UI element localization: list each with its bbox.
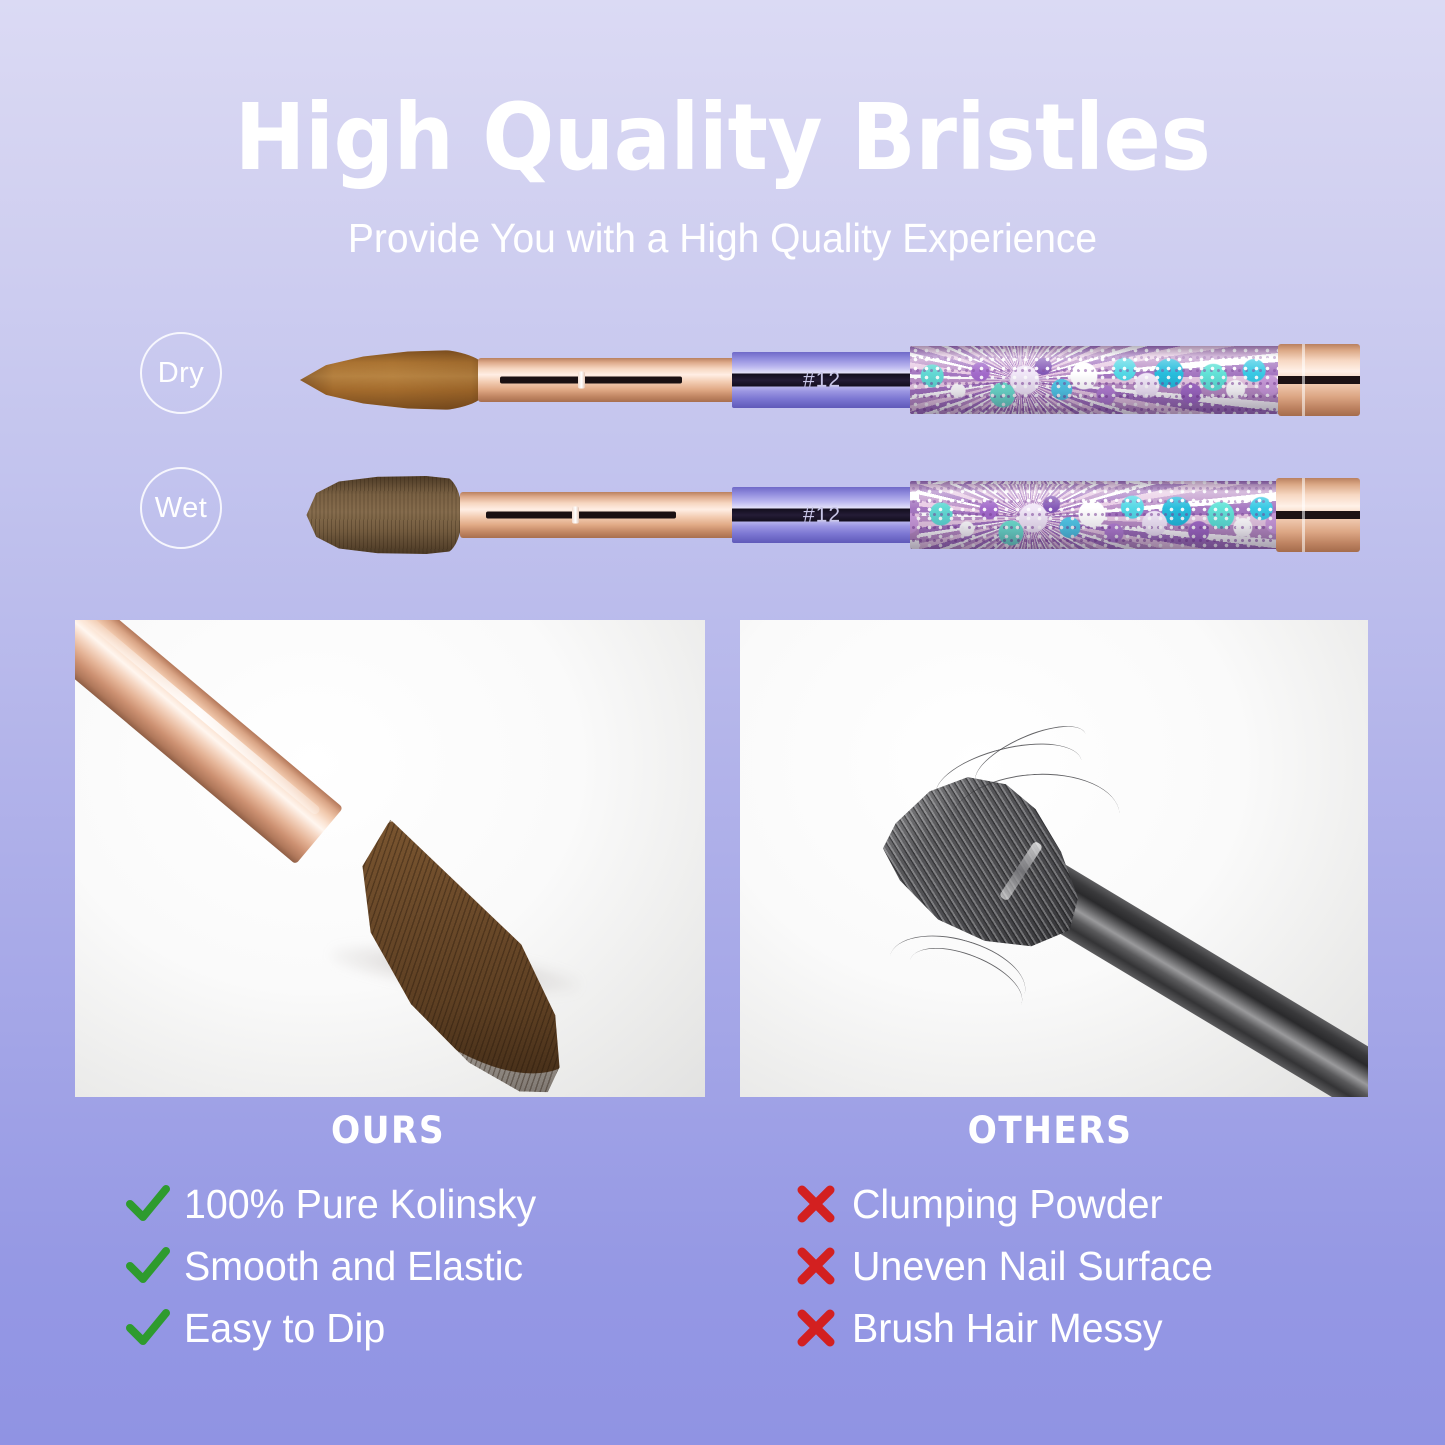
ours-brush-photo xyxy=(75,620,705,1097)
feature-list-ours: 100% Pure Kolinsky Smooth and Elastic Ea… xyxy=(68,1173,708,1359)
feature-label: 100% Pure Kolinsky xyxy=(184,1184,536,1225)
state-badge-wet-label: Wet xyxy=(155,492,208,525)
glitter-shading-wet xyxy=(910,481,1278,549)
end-cap-split-dry xyxy=(1302,344,1305,416)
end-cap-dry xyxy=(1278,344,1360,416)
page-title: High Quality Bristles xyxy=(58,0,1387,184)
feature-label: Brush Hair Messy xyxy=(852,1308,1163,1349)
feature-list-others: Clumping Powder Uneven Nail Surface Brus… xyxy=(730,1173,1370,1359)
product-feature-banner: High Quality Bristles Provide You with a… xyxy=(0,0,1445,1445)
brush-illustration-wet: #12 xyxy=(300,450,1360,580)
list-item: Uneven Nail Surface xyxy=(730,1235,1370,1297)
brush-illustration-dry: #12 xyxy=(300,315,1360,445)
feature-label: Uneven Nail Surface xyxy=(852,1246,1213,1287)
state-badge-dry: Dry xyxy=(140,332,222,414)
brush-row-wet: Wet #12 xyxy=(0,450,1445,580)
column-heading-ours: OURS xyxy=(90,1112,685,1149)
check-icon xyxy=(122,1246,174,1286)
brush-rounded-icon xyxy=(300,476,462,554)
handle-purple-wet: #12 xyxy=(732,487,912,543)
ferrule-dry xyxy=(478,358,740,402)
page-subtitle: Provide You with a High Quality Experien… xyxy=(36,184,1409,259)
cross-icon xyxy=(790,1246,842,1286)
header: High Quality Bristles Provide You with a… xyxy=(0,0,1445,259)
ferrule-slot-dry xyxy=(500,377,682,384)
state-badge-wet: Wet xyxy=(140,467,222,549)
handle-glitter-dry xyxy=(910,346,1280,414)
comparison-column-ours: OURS 100% Pure Kolinsky Smooth and Elast… xyxy=(68,1112,708,1359)
check-icon xyxy=(122,1184,174,1224)
check-icon xyxy=(122,1308,174,1348)
state-badge-dry-label: Dry xyxy=(158,357,205,390)
end-cap-wet xyxy=(1276,478,1360,552)
handle-size-label-dry: #12 xyxy=(732,370,912,391)
cross-icon xyxy=(790,1184,842,1224)
list-item: 100% Pure Kolinsky xyxy=(68,1173,708,1235)
column-heading-others: OTHERS xyxy=(752,1112,1347,1149)
feature-label: Easy to Dip xyxy=(184,1308,385,1349)
glitter-shading-dry xyxy=(910,346,1280,414)
list-item: Easy to Dip xyxy=(68,1297,708,1359)
comparison-column-others: OTHERS Clumping Powder Uneven Nail Surfa… xyxy=(730,1112,1370,1359)
feature-label: Clumping Powder xyxy=(852,1184,1163,1225)
handle-size-label-wet: #12 xyxy=(732,505,912,526)
list-item: Smooth and Elastic xyxy=(68,1235,708,1297)
cross-icon xyxy=(790,1308,842,1348)
list-item: Brush Hair Messy xyxy=(730,1297,1370,1359)
feature-label: Smooth and Elastic xyxy=(184,1246,523,1287)
handle-purple-dry: #12 xyxy=(732,352,912,408)
handle-glitter-wet xyxy=(910,481,1278,549)
ferrule-pin-dry xyxy=(578,372,585,389)
end-cap-groove-wet xyxy=(1276,511,1360,519)
others-brush-photo xyxy=(740,620,1368,1097)
end-cap-split-wet xyxy=(1302,478,1305,552)
brush-row-dry: Dry #12 xyxy=(0,315,1445,445)
list-item: Clumping Powder xyxy=(730,1173,1370,1235)
ferrule-slot-wet xyxy=(486,512,676,519)
ferrule-wet xyxy=(460,492,740,538)
ferrule-pin-wet xyxy=(572,507,579,524)
brush-pointed-icon xyxy=(300,349,486,411)
end-cap-groove-dry xyxy=(1278,376,1360,384)
